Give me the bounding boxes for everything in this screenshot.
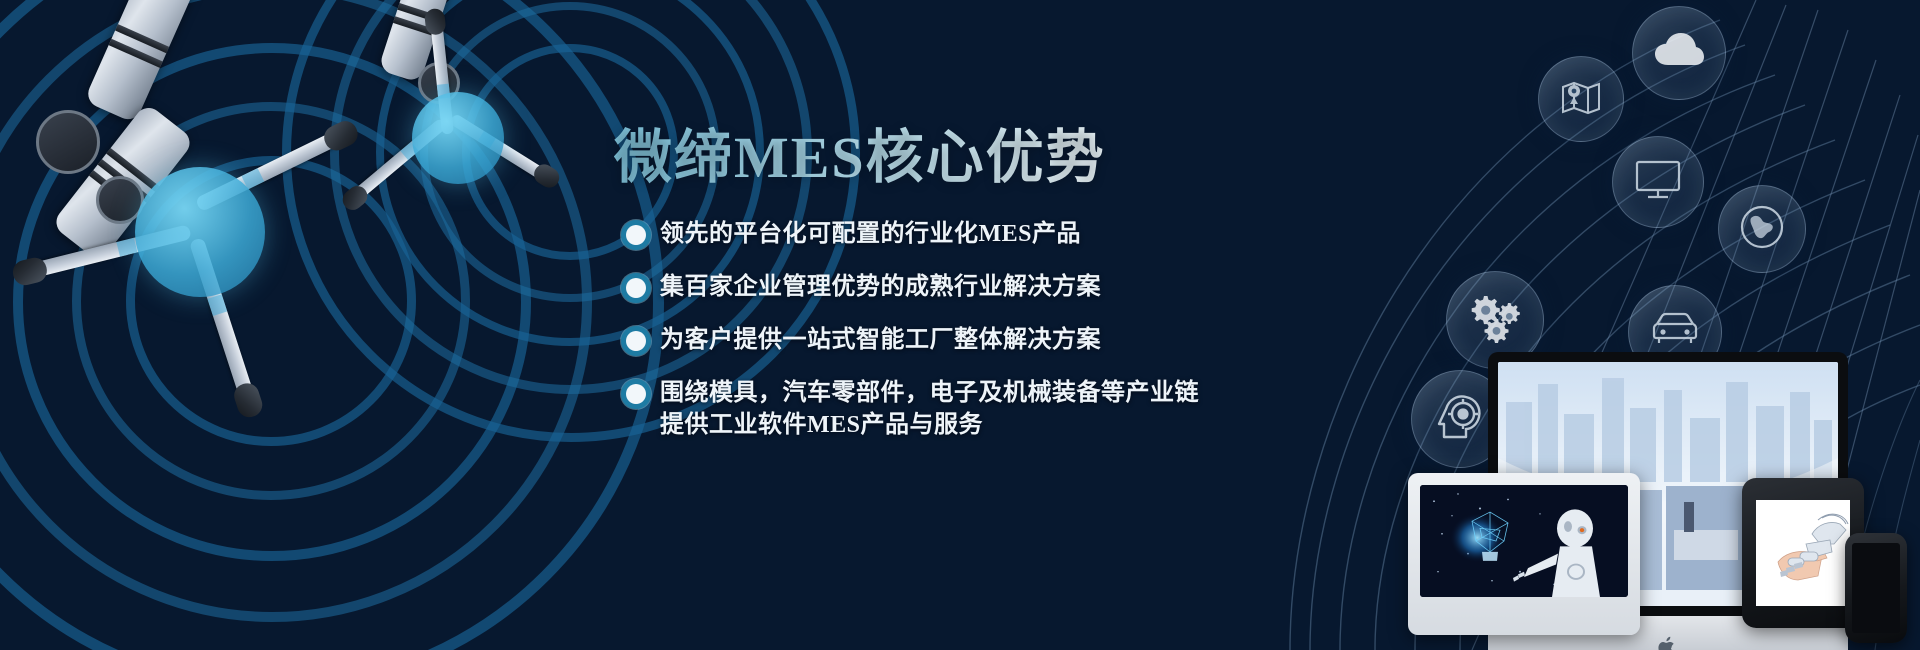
list-item: 领先的平台化可配置的行业化MES产品 (626, 218, 1374, 250)
delta-hub (412, 92, 504, 184)
list-item: 集百家企业管理优势的成熟行业解决方案 (626, 271, 1374, 303)
banner-text-block: 微缔MES核心优势 领先的平台化可配置的行业化MES产品 集百家企业管理优势的成… (614, 126, 1374, 463)
cloud-icon (1652, 31, 1706, 76)
bullet-text-multiline: 围绕模具，汽车零部件，电子及机械装备等产业链 提供工业软件MES产品与服务 (660, 377, 1199, 441)
ai-head-icon (1434, 391, 1486, 448)
monitor-icon-circle (1612, 136, 1704, 228)
list-item: 围绕模具，汽车零部件，电子及机械装备等产业链 提供工业软件MES产品与服务 (626, 377, 1374, 441)
apple-logo-icon (1658, 635, 1678, 650)
phone-frame (1845, 533, 1907, 643)
advantages-list: 领先的平台化可配置的行业化MES产品 集百家企业管理优势的成熟行业解决方案 为客… (626, 218, 1374, 442)
cloud-icon-circle (1632, 6, 1726, 100)
bullet-dot-icon (626, 278, 646, 298)
phone-screen (1852, 543, 1900, 633)
map-location-icon (1559, 78, 1603, 121)
smartphone (1845, 533, 1907, 643)
tablet-screen (1756, 500, 1850, 606)
monitor-icon (1634, 159, 1682, 206)
mes-advantage-banner: 微缔MES核心优势 领先的平台化可配置的行业化MES产品 集百家企业管理优势的成… (0, 0, 1920, 650)
laptop-screen (1420, 485, 1628, 597)
globe-icon-circle (1718, 185, 1806, 273)
list-item: 为客户提供一站式智能工厂整体解决方案 (626, 324, 1374, 356)
bullet-dot-icon (626, 331, 646, 351)
bullet-text-line1: 围绕模具，汽车零部件，电子及机械装备等产业链 (660, 380, 1199, 406)
delta-hub (135, 167, 265, 297)
laptop-body (1408, 473, 1640, 635)
gears-icon (1468, 293, 1522, 348)
globe-icon (1739, 204, 1785, 255)
bullet-text: 集百家企业管理优势的成熟行业解决方案 (660, 271, 1101, 303)
page-title: 微缔MES核心优势 (614, 126, 1374, 190)
car-icon (1650, 312, 1700, 353)
laptop (1408, 473, 1640, 635)
bullet-dot-icon (626, 384, 646, 404)
map-icon-circle (1538, 56, 1624, 142)
bullet-text-line2: 提供工业软件MES产品与服务 (660, 409, 1199, 441)
bullet-dot-icon (626, 225, 646, 245)
bullet-text: 领先的平台化可配置的行业化MES产品 (660, 218, 1081, 250)
bullet-text: 为客户提供一站式智能工厂整体解决方案 (660, 324, 1101, 356)
arm-pivot-disc (36, 110, 100, 174)
